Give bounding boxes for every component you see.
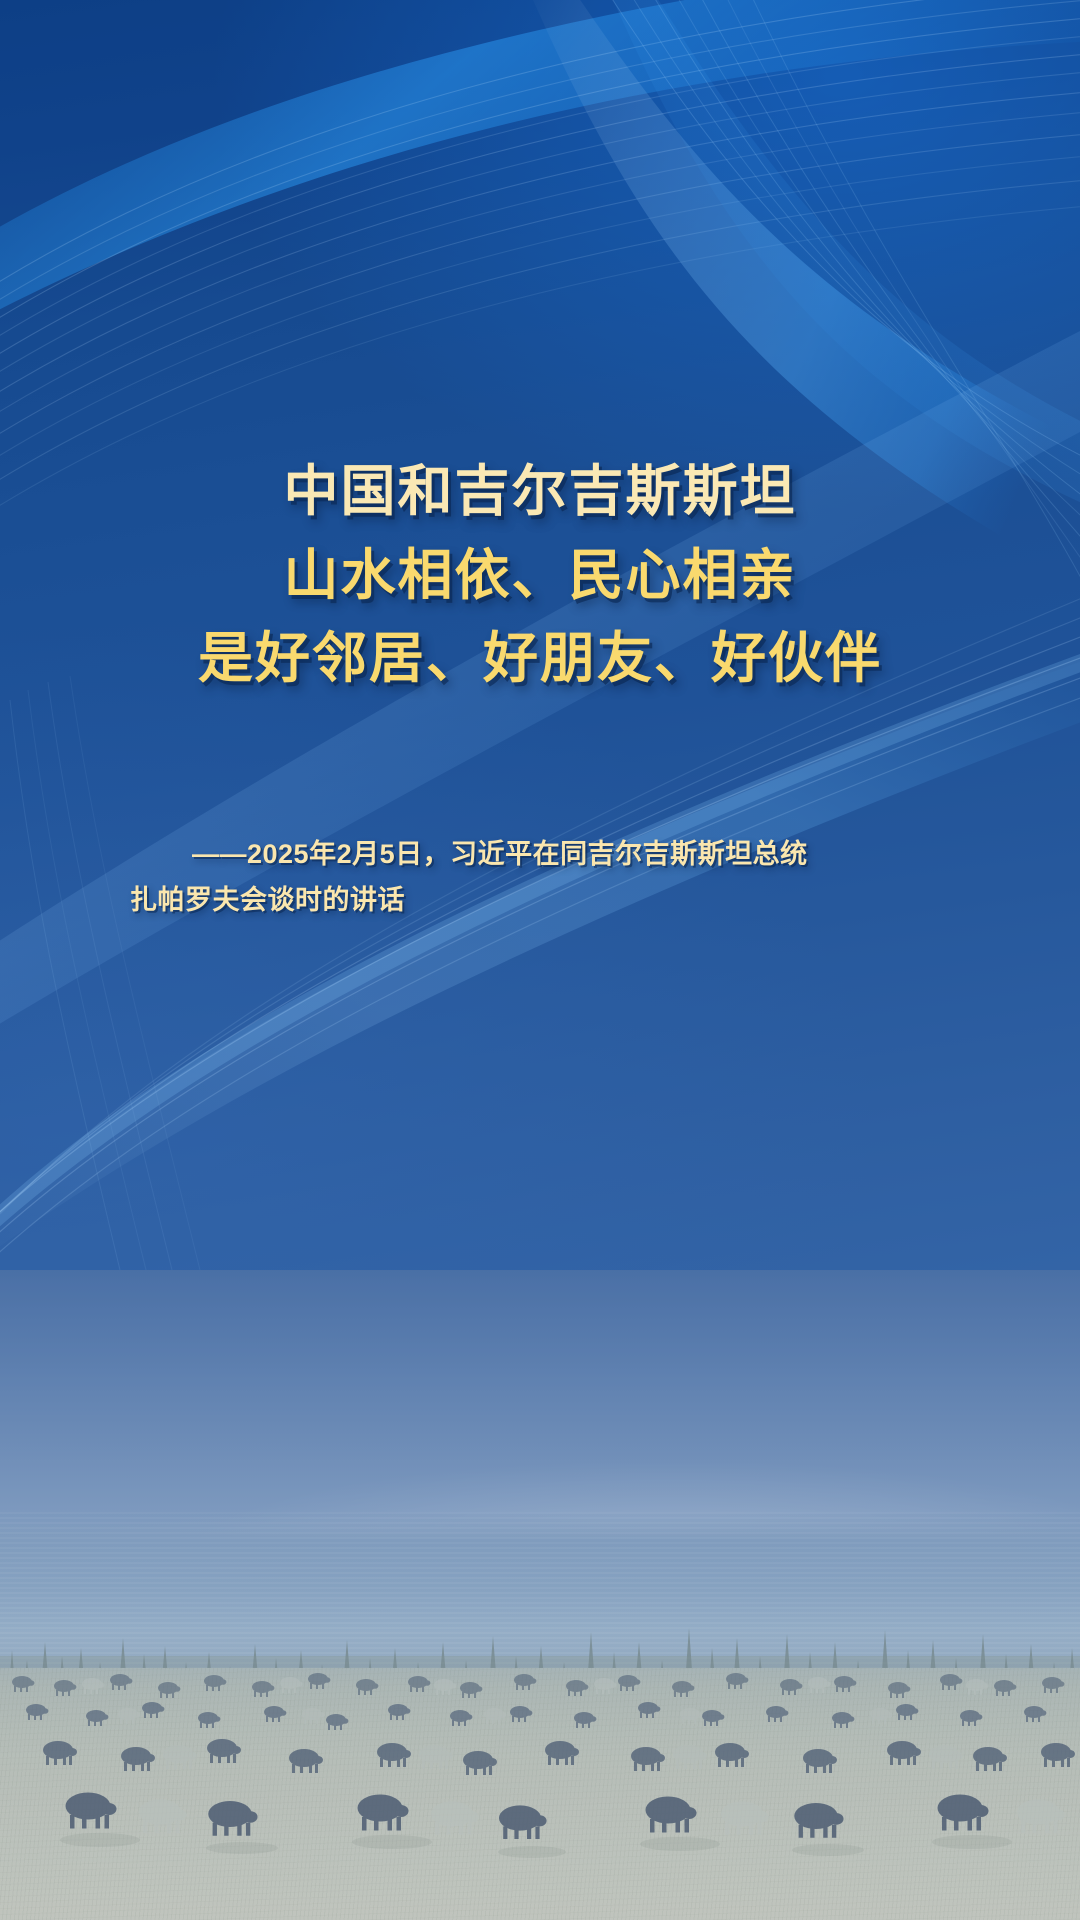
attribution-block: ——2025年2月5日，习近平在同吉尔吉斯斯坦总统 扎帕罗夫会谈时的讲话 [60,831,1020,924]
attribution-line-2: 扎帕罗夫会谈时的讲话 [130,877,980,923]
headline-line-2: 山水相依、民心相亲 [60,534,1020,618]
poster-content: 中国和吉尔吉斯斯坦 山水相依、民心相亲 是好邻居、好朋友、好伙伴 ——2025年… [0,0,1080,924]
headline-line-3: 是好邻居、好朋友、好伙伴 [60,617,1020,701]
headline-line-1: 中国和吉尔吉斯斯坦 [60,450,1020,534]
quote-poster: 中国和吉尔吉斯斯坦 山水相依、民心相亲 是好邻居、好朋友、好伙伴 ——2025年… [0,0,1080,1920]
headline-block: 中国和吉尔吉斯斯坦 山水相依、民心相亲 是好邻居、好朋友、好伙伴 [60,450,1020,701]
attribution-line-1: ——2025年2月5日，习近平在同吉尔吉斯斯坦总统 [130,831,980,877]
